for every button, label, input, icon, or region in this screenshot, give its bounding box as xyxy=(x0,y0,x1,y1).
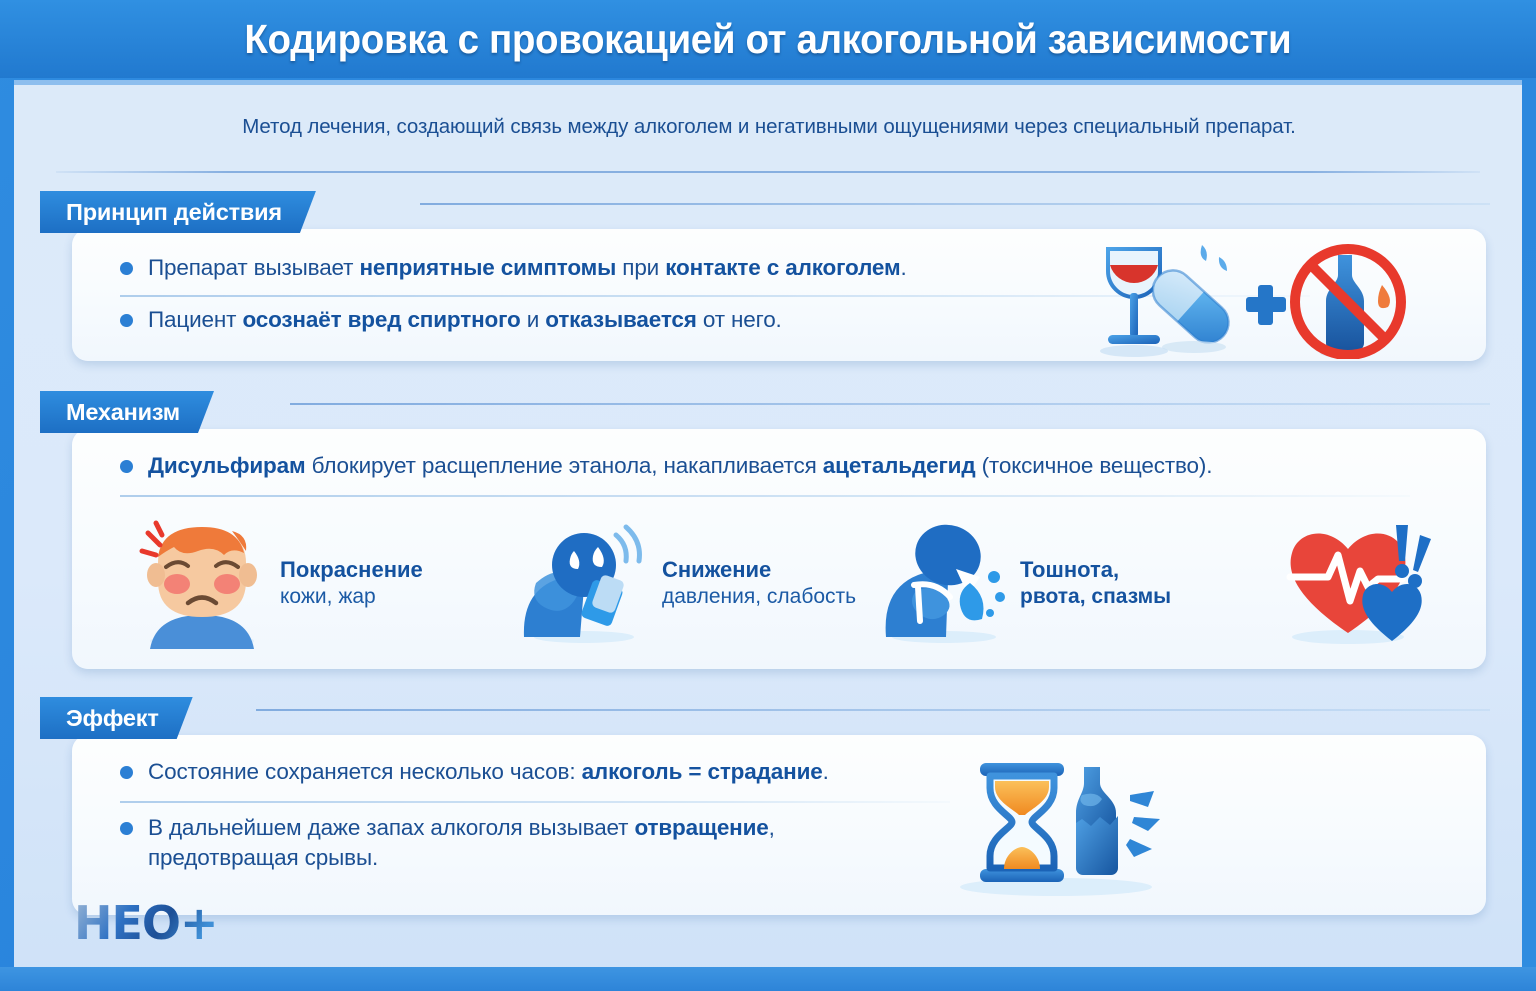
bullet-principle-1: Препарат вызывает неприятные симптомы пр… xyxy=(120,253,1100,283)
effect-icon-cluster xyxy=(944,747,1174,897)
bullet-dot-icon xyxy=(120,766,133,779)
symptom-low-pressure-text: Снижение давления, слабость xyxy=(662,557,856,609)
bullet-effect-2: В дальнейшем даже запах алкоголя вызывае… xyxy=(120,813,1020,873)
content-panel: Метод лечения, создающий связь между алк… xyxy=(14,80,1522,976)
section-principle: Принцип действия Препарат вызывает непри… xyxy=(40,191,1495,233)
bullet-mechanism-1-text: Дисульфирам блокирует расщепление этанол… xyxy=(148,451,1212,481)
symptom-line2: рвота, спазмы xyxy=(1020,584,1171,610)
card-inner-divider-3 xyxy=(120,801,950,803)
tab-rule-principle xyxy=(420,203,1490,205)
bullet-dot-icon xyxy=(120,822,133,835)
card-inner-divider-2 xyxy=(120,495,1410,497)
bullet-principle-2: Пациент осознаёт вред спиртного и отказы… xyxy=(120,305,1100,335)
section-effect: Эффект Состояние сохраняется несколько ч… xyxy=(40,697,1495,739)
principle-icon-cluster xyxy=(1082,233,1422,359)
effect-icons-svg xyxy=(944,747,1174,897)
symptom-low-pressure: Снижение давления, слабость xyxy=(522,521,856,645)
bullet-effect-1-text: Состояние сохраняется несколько часов: а… xyxy=(148,757,829,787)
section-tab-mechanism: Механизм xyxy=(40,391,214,433)
card-effect: Состояние сохраняется несколько часов: а… xyxy=(72,735,1486,915)
brand-logo: НЕО+ xyxy=(74,896,218,950)
infographic-poster: Кодировка с провокацией от алкогольной з… xyxy=(0,0,1536,991)
heartbeat-icon xyxy=(1284,515,1436,647)
section-tab-effect: Эффект xyxy=(40,697,193,739)
dizzy-person-icon xyxy=(522,521,650,645)
symptom-nausea: Тошнота, рвота, спазмы xyxy=(882,521,1171,645)
symptom-line2: кожи, жар xyxy=(280,584,423,610)
section-tab-principle: Принцип действия xyxy=(40,191,316,233)
intro-text: Метод лечения, создающий связь между алк… xyxy=(64,115,1474,139)
bullet-effect-1: Состояние сохраняется несколько часов: а… xyxy=(120,757,1020,787)
section-mechanism: Механизм Дисульфирам блокирует расщеплен… xyxy=(40,391,1495,433)
tab-rule-mechanism xyxy=(290,403,1490,405)
intro-divider xyxy=(56,171,1480,173)
tab-rule-effect xyxy=(256,709,1490,711)
symptom-line2: давления, слабость xyxy=(662,584,856,610)
poster-header: Кодировка с провокацией от алкогольной з… xyxy=(0,0,1536,78)
symptom-nausea-text: Тошнота, рвота, спазмы xyxy=(1020,557,1171,609)
footer-strip xyxy=(0,967,1536,991)
symptom-flushed-face: Покраснение кожи, жар xyxy=(136,517,423,649)
bullet-dot-icon xyxy=(120,262,133,275)
symptom-line1: Тошнота, xyxy=(1020,557,1171,584)
bullet-mechanism-1: Дисульфирам блокирует расщепление этанол… xyxy=(120,451,1420,481)
bullet-dot-icon xyxy=(120,460,133,473)
principle-icons-svg xyxy=(1082,233,1422,359)
card-principle: Препарат вызывает неприятные симптомы пр… xyxy=(72,229,1486,361)
bullet-dot-icon xyxy=(120,314,133,327)
card-mechanism: Дисульфирам блокирует расщепление этанол… xyxy=(72,429,1486,669)
page-title: Кодировка с провокацией от алкогольной з… xyxy=(245,16,1292,63)
symptom-heartbeat xyxy=(1284,515,1436,647)
symptom-line1: Снижение xyxy=(662,557,856,584)
bullet-principle-1-text: Препарат вызывает неприятные симптомы пр… xyxy=(148,253,907,283)
vomiting-person-icon xyxy=(882,521,1008,645)
bullet-effect-2-text: В дальнейшем даже запах алкоголя вызывае… xyxy=(148,813,775,873)
symptom-line1: Покраснение xyxy=(280,557,423,584)
symptom-flushed-face-text: Покраснение кожи, жар xyxy=(280,557,423,609)
flushed-face-icon xyxy=(136,517,268,649)
bullet-principle-2-text: Пациент осознаёт вред спиртного и отказы… xyxy=(148,305,782,335)
